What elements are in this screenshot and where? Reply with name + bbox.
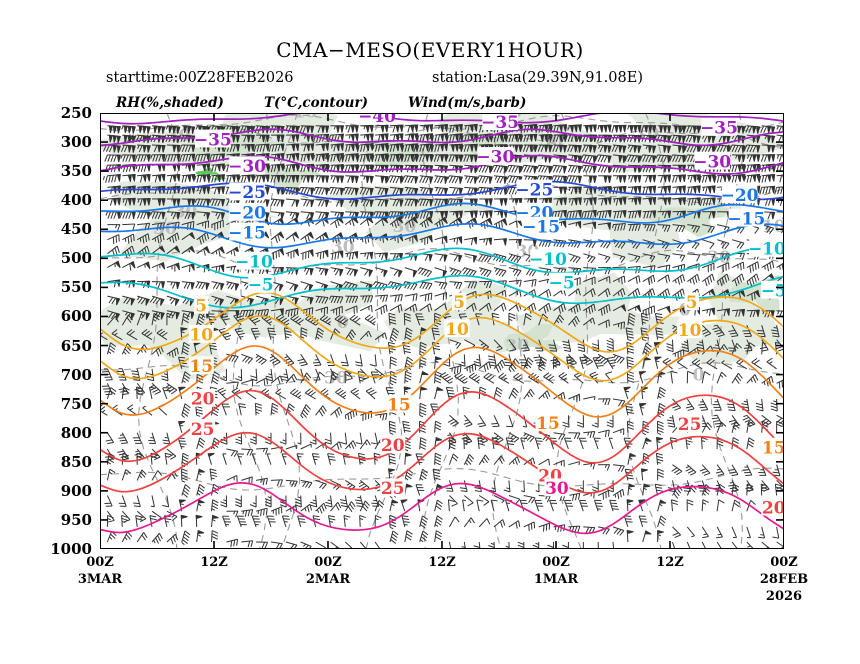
temperature-contour-label: −25 — [228, 183, 266, 203]
temperature-contour-label: −10 — [529, 250, 567, 270]
subtitle-row: starttime:00Z28FEB2026 station:Lasa(29.3… — [0, 70, 860, 90]
temperature-contour-label: −40 — [358, 113, 396, 127]
x-tick-time-1: 12Z — [174, 555, 254, 570]
temperature-contour-label: 15 — [189, 357, 213, 377]
starttime-label: starttime:00Z28FEB2026 — [106, 70, 294, 86]
temperature-contour-label: −30 — [693, 152, 731, 172]
temperature-contour-label: −10 — [235, 252, 273, 272]
temperature-contour-label: 20 — [381, 436, 405, 456]
y-tick-400: 400 — [32, 191, 92, 209]
temperature-contour-label: 10 — [445, 320, 469, 340]
y-tick-250: 250 — [32, 104, 92, 122]
temperature-contour-label: −20 — [721, 186, 759, 206]
temperature-contour-label: 10 — [678, 321, 702, 341]
temperature-contour-label: −25 — [515, 180, 553, 200]
x-tick-time-4: 00Z — [516, 555, 596, 570]
temperature-contour-label: 25 — [381, 479, 405, 499]
y-tick-650: 650 — [32, 337, 92, 355]
x-tick-time-0: 00Z — [60, 555, 140, 570]
temperature-contour-label: 30 — [545, 479, 569, 499]
temperature-contour-label: −5 — [761, 281, 784, 301]
rh-contour-label: 30 — [505, 336, 529, 356]
x-tick-date-0: 3MAR — [60, 572, 140, 587]
temperature-contour-label: −15 — [727, 209, 765, 229]
y-tick-900: 900 — [32, 482, 92, 500]
temperature-contour-label: −5 — [549, 273, 575, 293]
y-tick-950: 950 — [32, 511, 92, 529]
y-tick-450: 450 — [32, 220, 92, 238]
x-tick-time-3: 12Z — [402, 555, 482, 570]
y-tick-750: 750 — [32, 395, 92, 413]
x-tick-year-6: 2026 — [744, 589, 824, 604]
temperature-contour-label: 15 — [387, 395, 411, 415]
temperature-contour-label: 5 — [195, 297, 207, 317]
temperature-contour-label: −15 — [522, 217, 560, 237]
chart-page: CMA−MESO(EVERY1HOUR) starttime:00Z28FEB2… — [0, 0, 860, 664]
legend-wind: Wind(m/s,barb) — [408, 95, 526, 111]
y-tick-700: 700 — [32, 366, 92, 384]
y-tick-300: 300 — [32, 133, 92, 151]
temperature-contour-label: 5 — [453, 293, 465, 313]
y-tick-500: 500 — [32, 249, 92, 267]
x-tick-date-2: 2MAR — [288, 572, 368, 587]
x-tick-time-6: 00Z — [744, 555, 824, 570]
y-tick-850: 850 — [32, 453, 92, 471]
y-tick-600: 600 — [32, 307, 92, 325]
temperature-contour-label: −20 — [228, 204, 266, 224]
temperature-contour-label: −10 — [748, 240, 784, 260]
temperature-contour-label: 20 — [762, 498, 784, 518]
legend-temperature: T(°C,contour) — [264, 95, 368, 111]
temperature-contour-label: −35 — [194, 130, 232, 150]
y-tick-800: 800 — [32, 424, 92, 442]
y-tick-550: 550 — [32, 278, 92, 296]
temperature-contour-label: −15 — [228, 223, 266, 243]
x-tick-date-6: 28FEB — [744, 572, 824, 587]
plot-area: 1010101030303030303030303030300000 −40−3… — [100, 113, 784, 549]
temperature-contour-label: 15 — [762, 438, 784, 458]
x-tick-time-5: 12Z — [630, 555, 710, 570]
temperature-contour-label: −35 — [700, 119, 738, 139]
legend-rh: RH(%,shaded) — [116, 95, 224, 111]
temperature-contour-label: 25 — [678, 415, 702, 435]
temperature-contour-label: 25 — [191, 420, 215, 440]
temperature-contour-label: −30 — [228, 157, 266, 177]
temperature-contour-label: 20 — [191, 390, 215, 410]
x-tick-time-2: 00Z — [288, 555, 368, 570]
rh-contour-label: 10 — [293, 113, 317, 123]
page-title: CMA−MESO(EVERY1HOUR) — [0, 38, 860, 62]
legend-row: RH(%,shaded) T(°C,contour) Wind(m/s,barb… — [0, 95, 860, 113]
temperature-contour-label: −30 — [476, 148, 514, 168]
temperature-contour-label: 10 — [189, 326, 213, 346]
x-tick-date-4: 1MAR — [516, 572, 596, 587]
temperature-contour-label: −35 — [481, 113, 519, 133]
temperature-contour-label: 5 — [686, 293, 698, 313]
temperature-contour-label: −5 — [248, 276, 274, 296]
station-label: station:Lasa(29.39N,91.08E) — [432, 70, 643, 86]
temperature-contour-label: 15 — [536, 414, 560, 434]
y-tick-350: 350 — [32, 162, 92, 180]
